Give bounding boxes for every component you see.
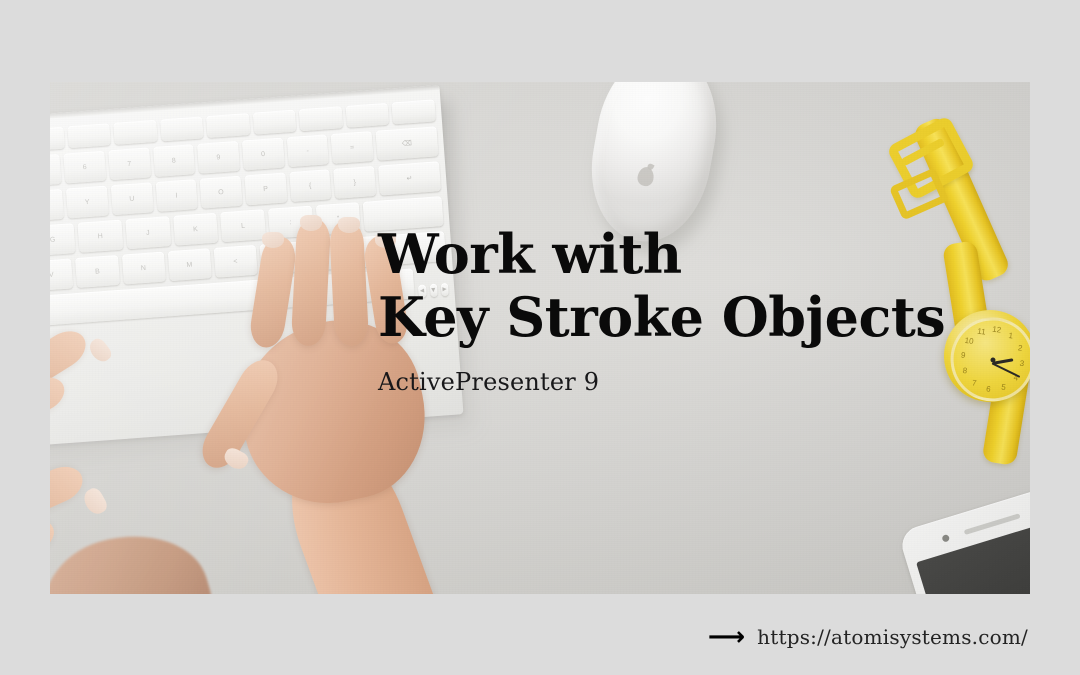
title-line-1: Work with [378, 228, 1018, 280]
title-line-2: Key Stroke Objects [378, 291, 1018, 343]
website-url[interactable]: https://atomisystems.com/ [757, 625, 1028, 649]
right-arrow-icon: ⟶ [708, 624, 743, 650]
title-block: Work with Key Stroke Objects ActivePrese… [378, 228, 1018, 396]
subtitle: ActivePresenter 9 [378, 368, 1018, 396]
slide-canvas: 3 4 5 6 7 8 9 0 - = ⌫ E R [0, 0, 1080, 675]
hero-photo: 3 4 5 6 7 8 9 0 - = ⌫ E R [50, 82, 1030, 594]
footer: ⟶ https://atomisystems.com/ [0, 612, 1080, 662]
